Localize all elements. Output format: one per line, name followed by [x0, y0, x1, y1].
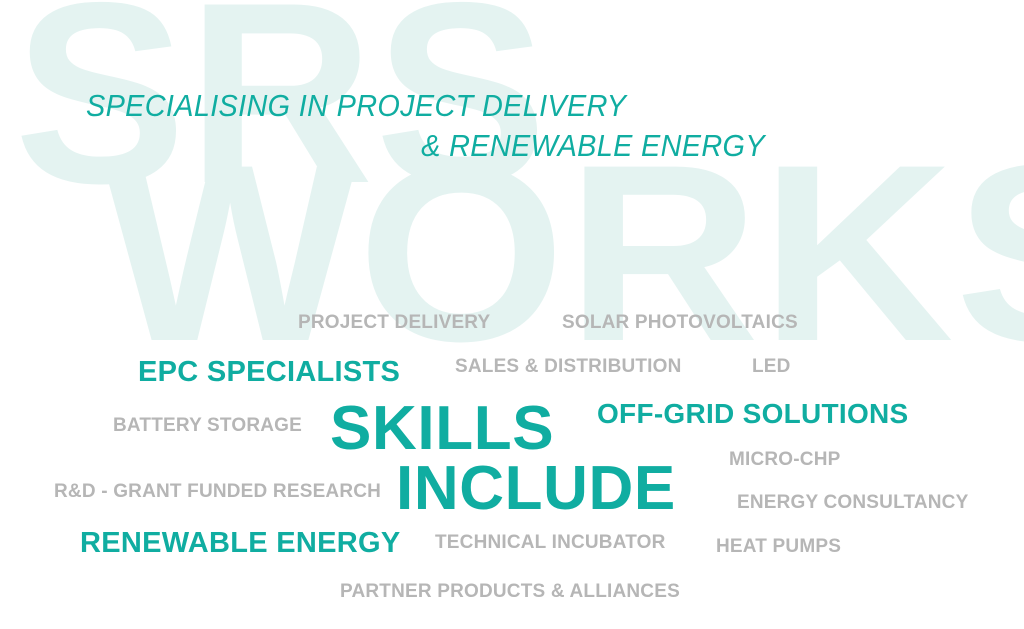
- word-cloud-item: HEAT PUMPS: [716, 537, 841, 556]
- poster-canvas: SRS WORKS SPECIALISING IN PROJECT DELIVE…: [0, 0, 1024, 629]
- word-cloud-item: PROJECT DELIVERY: [298, 313, 490, 332]
- word-cloud-item: OFF-GRID SOLUTIONS: [597, 400, 908, 428]
- word-cloud-item: TECHNICAL INCUBATOR: [435, 533, 666, 552]
- word-cloud-item: RENEWABLE ENERGY: [80, 529, 400, 558]
- headline-line-2: & RENEWABLE ENERGY: [86, 126, 774, 166]
- word-cloud-item: PARTNER PRODUCTS & ALLIANCES: [340, 582, 680, 601]
- word-cloud-item: R&D - GRANT FUNDED RESEARCH: [54, 482, 381, 501]
- word-cloud-item: ENERGY CONSULTANCY: [737, 493, 968, 512]
- word-cloud-item: INCLUDE: [396, 458, 676, 520]
- word-cloud-item: LED: [752, 357, 791, 376]
- word-cloud-item: SALES & DISTRIBUTION: [455, 357, 682, 376]
- headline: SPECIALISING IN PROJECT DELIVERY & RENEW…: [86, 86, 774, 166]
- word-cloud-item: EPC SPECIALISTS: [138, 358, 400, 387]
- word-cloud-item: BATTERY STORAGE: [113, 416, 302, 435]
- word-cloud-item: SKILLS: [330, 398, 554, 460]
- word-cloud-item: MICRO-CHP: [729, 450, 840, 469]
- headline-line-1: SPECIALISING IN PROJECT DELIVERY: [86, 86, 774, 126]
- word-cloud-item: SOLAR PHOTOVOLTAICS: [562, 313, 798, 332]
